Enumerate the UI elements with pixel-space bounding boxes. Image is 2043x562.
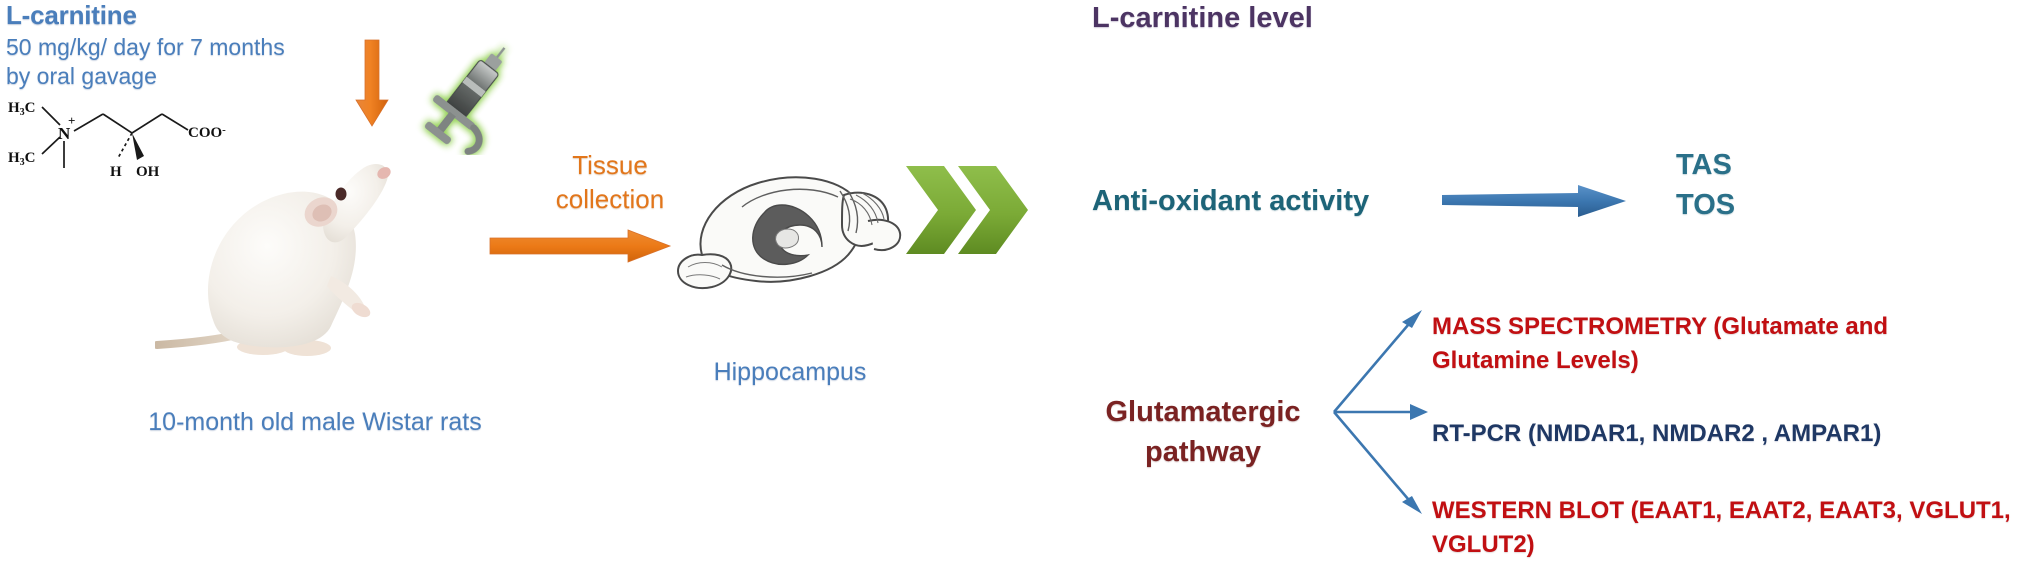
- assay-rt-pcr: RT-PCR (NMDAR1, NMDAR2 , AMPAR1): [1432, 417, 2032, 451]
- marker-tas: TAS: [1676, 145, 1735, 185]
- lcarnitine-dose-block: 50 mg/kg/ day for 7 months by oral gavag…: [6, 33, 285, 91]
- carboxylate-label: COO-: [188, 124, 226, 141]
- dose-line-2: by oral gavage: [6, 62, 285, 91]
- glutamatergic-line-1: Glutamatergic: [1090, 392, 1316, 432]
- methyl-bottom-label: H3C: [8, 150, 36, 168]
- methyl-top-label: H3C: [8, 100, 36, 118]
- hippocampus-label: Hippocampus: [670, 358, 910, 387]
- orange-down-arrow-icon: [352, 38, 392, 130]
- glutamatergic-pathway-label: Glutamatergic pathway: [1090, 392, 1316, 472]
- blue-right-arrow-icon: [1440, 180, 1630, 220]
- hydrogen-label: H: [110, 164, 122, 180]
- lcarnitine-level-label: L-carnitine level: [1092, 2, 1313, 35]
- branch-arrowhead-top: [1402, 310, 1422, 328]
- assay-mass-spectrometry: MASS SPECTROMETRY (Glutamate and Glutami…: [1432, 310, 2032, 378]
- assay-ms-line-2: Glutamine Levels): [1432, 344, 2032, 378]
- assay-rtpcr-line-1: RT-PCR (NMDAR1, NMDAR2 , AMPAR1): [1432, 417, 2032, 451]
- stereo-wedge: [132, 133, 144, 160]
- wistar-rats-caption: 10-month old male Wistar rats: [110, 408, 520, 437]
- assay-ms-line-1: MASS SPECTROMETRY (Glutamate and: [1432, 310, 2032, 344]
- assay-wb-line-2: VGLUT2): [1432, 528, 2043, 562]
- syringe-icon: [405, 30, 535, 155]
- blue-three-way-branch-arrows-icon: [1330, 300, 1440, 530]
- lcarnitine-title: L-carnitine: [6, 0, 137, 31]
- antioxidant-markers: TAS TOS: [1676, 145, 1735, 225]
- assay-western-blot: WESTERN BLOT (EAAT1, EAAT2, EAAT3, VGLUT…: [1432, 494, 2043, 562]
- assay-wb-line-1: WESTERN BLOT (EAAT1, EAAT2, EAAT3, VGLUT…: [1432, 494, 2043, 528]
- dose-line-1: 50 mg/kg/ day for 7 months: [6, 33, 285, 62]
- figure-canvas: L-carnitine 50 mg/kg/ day for 7 months b…: [0, 0, 2043, 562]
- white-laboratory-rat: [155, 150, 395, 400]
- green-double-chevron-icon: [900, 160, 1035, 260]
- antioxidant-activity-label: Anti-oxidant activity: [1092, 185, 1369, 218]
- branch-arrowhead-bottom: [1402, 496, 1422, 514]
- positive-charge-label: +: [68, 113, 75, 128]
- glutamatergic-line-2: pathway: [1090, 432, 1316, 472]
- marker-tos: TOS: [1676, 185, 1735, 225]
- branch-arrowhead-middle: [1410, 404, 1428, 420]
- rat-brain-sagittal-illustration: [672, 155, 907, 315]
- orange-right-arrow-icon: [488, 228, 673, 264]
